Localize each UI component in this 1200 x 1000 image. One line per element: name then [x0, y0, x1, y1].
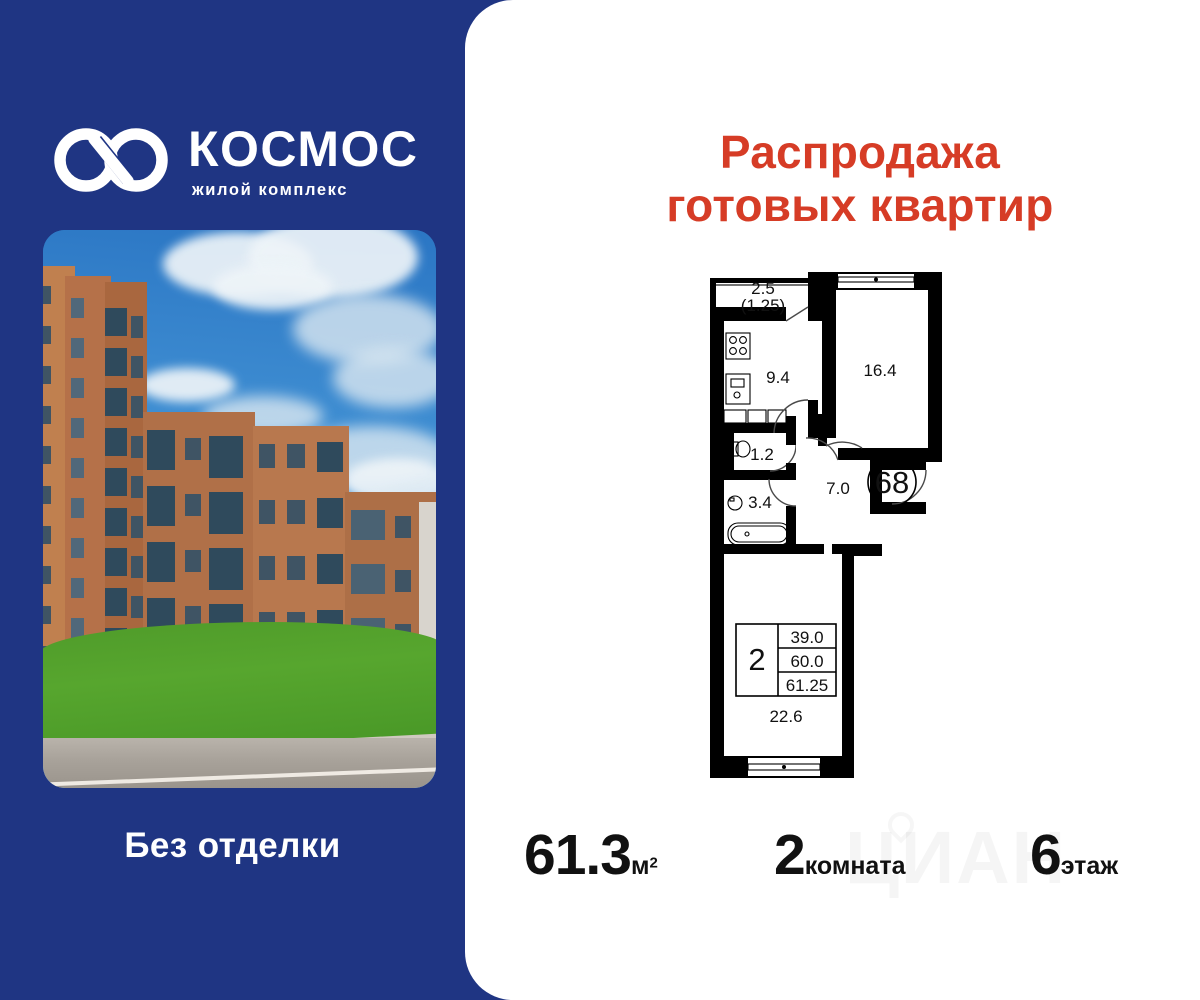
area-table-living: 39.0 — [790, 628, 823, 647]
area-table-usable: 60.0 — [790, 652, 823, 671]
brand-block: КОСМОС жилой комплекс — [52, 118, 452, 210]
apartment-number: 68 — [875, 465, 909, 500]
stat-rooms-value: 2 — [774, 823, 805, 887]
stat-floor: 6этаж — [1030, 822, 1118, 888]
area-table-rooms: 2 — [748, 642, 765, 677]
apartment-stats: 61.3м2 2комната 6этаж — [500, 812, 1190, 892]
residential-complex-photo — [43, 230, 436, 788]
stat-area-value: 61.3 — [524, 823, 631, 887]
stat-area: 61.3м2 — [524, 822, 658, 888]
stat-area-unit: м — [631, 852, 650, 880]
headline-line-2: готовых квартир — [560, 179, 1160, 232]
brand-subtitle: жилой комплекс — [192, 182, 348, 199]
stat-floor-unit: этаж — [1061, 852, 1118, 880]
finish-type-caption: Без отделки — [0, 826, 465, 866]
cloud — [139, 368, 235, 402]
lawn — [43, 622, 436, 752]
stat-rooms-unit: комната — [805, 852, 906, 880]
room-label-hall: 7.0 — [826, 479, 850, 498]
floor-plan-drawing: .w { fill:#000000; } .rm { fill:#ffffff;… — [690, 258, 980, 788]
room-label-living: 22.6 — [769, 707, 802, 726]
room-label-bedroom: 16.4 — [863, 361, 896, 380]
area-table-total: 61.25 — [786, 676, 829, 695]
stat-area-unit-sup: 2 — [649, 855, 657, 872]
room-label-balcony-reduced: (1.25) — [741, 296, 785, 315]
brand-name: КОСМОС — [188, 124, 419, 174]
headline-line-1: Распродажа — [560, 126, 1160, 179]
stat-rooms: 2комната — [774, 822, 905, 888]
floor-plan: .w { fill:#000000; } .rm { fill:#ffffff;… — [690, 258, 980, 788]
listing-card: КОСМОС жилой комплекс — [0, 0, 1200, 1000]
stat-floor-value: 6 — [1030, 823, 1061, 887]
room-label-wc: 1.2 — [750, 445, 774, 464]
room-label-bathroom: 3.4 — [748, 493, 772, 512]
room-label-kitchen: 9.4 — [766, 368, 790, 387]
headline: Распродажа готовых квартир — [560, 126, 1160, 233]
infinity-icon — [52, 126, 170, 194]
